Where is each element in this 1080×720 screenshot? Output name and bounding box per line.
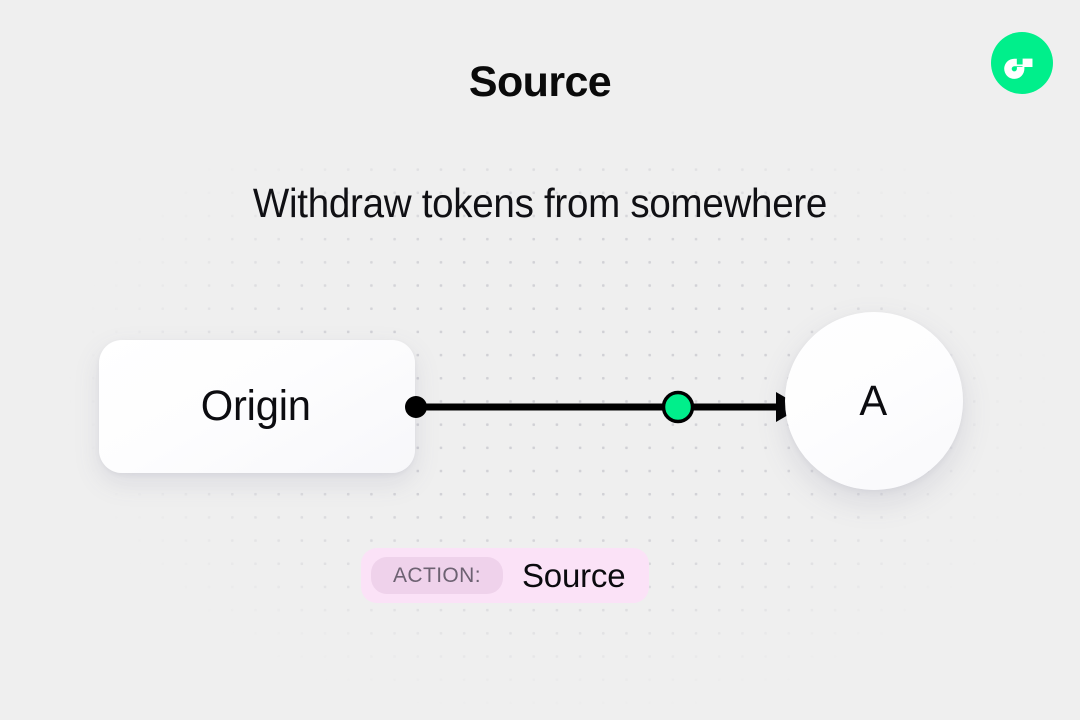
action-badge-value: Source xyxy=(522,557,625,595)
edge-token-dot[interactable] xyxy=(664,393,693,422)
edge-source-dot[interactable] xyxy=(405,396,427,418)
node-a[interactable]: A xyxy=(785,312,963,490)
node-a-label: A xyxy=(859,377,887,426)
diagram-canvas: Source Withdraw tokens from somewhere Or… xyxy=(0,0,1080,720)
node-origin[interactable]: Origin xyxy=(99,340,415,473)
page-title: Source xyxy=(0,61,1080,104)
edge-origin-to-a xyxy=(390,372,820,444)
page-subtitle: Withdraw tokens from somewhere xyxy=(32,180,1047,227)
node-origin-label: Origin xyxy=(201,382,311,431)
action-badge: ACTION: Source xyxy=(361,548,649,603)
action-badge-key: ACTION: xyxy=(371,557,503,594)
